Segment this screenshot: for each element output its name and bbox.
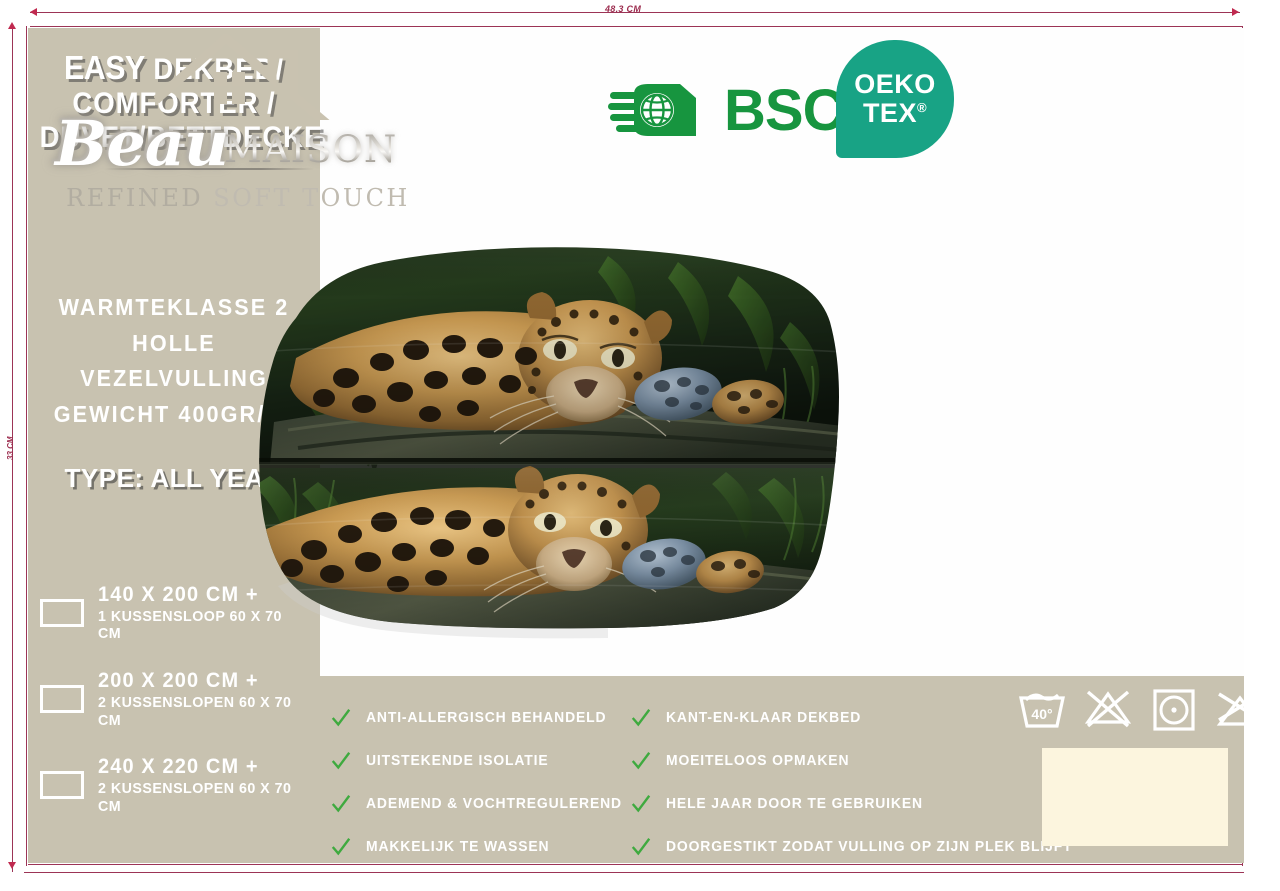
list-item: ANTI-ALLERGISCH BEHANDELD xyxy=(330,696,630,739)
tumble-dry-icon xyxy=(1148,682,1200,734)
product-image-duvet xyxy=(178,226,858,646)
list-item: MOEITELOOS OPMAKEN xyxy=(630,739,1020,782)
oeko-tex-certification-logo: OEKO TEX® xyxy=(836,40,954,158)
oeko-line-1: OEKO xyxy=(854,70,936,99)
dimension-arrow-right xyxy=(1232,8,1239,16)
checkmark-icon xyxy=(630,836,652,858)
oeko-tex-text: TEX xyxy=(863,98,917,128)
feature-list: ANTI-ALLERGISCH BEHANDELD UITSTEKENDE IS… xyxy=(330,696,1020,868)
dimension-guide-left-inner xyxy=(26,26,27,866)
checkmark-icon xyxy=(330,836,352,858)
checkmark-icon xyxy=(630,707,652,729)
feature-label: MAKKELIJK TE WASSEN xyxy=(366,839,549,855)
tagline-word-refined: REFINED xyxy=(66,184,203,212)
feature-label: ADEMEND & VOCHTREGULEREND xyxy=(366,796,622,812)
size-checkbox-200x200[interactable] xyxy=(40,685,84,713)
packaging-artboard: 48.3 CM 33 CM EASY DEKBED/ COMFORTER / D… xyxy=(0,0,1280,891)
size-pillowcase-info: 2 KUSSENSLOPEN 60 X 70 CM xyxy=(98,780,309,815)
size-option-row[interactable]: 240 X 220 CM + 2 KUSSENSLOPEN 60 X 70 CM xyxy=(40,755,320,815)
size-pillowcase-info: 2 KUSSENSLOPEN 60 X 70 CM xyxy=(98,694,309,729)
feature-label: UITSTEKENDE ISOLATIE xyxy=(366,753,549,769)
bsci-certification-logo: BSCI xyxy=(608,76,859,144)
dimension-arrow-down xyxy=(8,862,16,869)
oeko-line-2: TEX® xyxy=(863,99,927,128)
list-item: UITSTEKENDE ISOLATIE xyxy=(330,739,630,782)
size-option-row[interactable]: 200 X 200 CM + 2 KUSSENSLOPEN 60 X 70 CM xyxy=(40,669,320,729)
checkmark-icon xyxy=(630,750,652,772)
logo-divider xyxy=(104,168,314,170)
checkmark-icon xyxy=(330,750,352,772)
do-not-dry-clean-icon xyxy=(1214,682,1266,734)
list-item: KANT-EN-KLAAR DEKBED xyxy=(630,696,1020,739)
dimension-label-height: 33 CM xyxy=(6,436,15,460)
feature-column-left: ANTI-ALLERGISCH BEHANDELD UITSTEKENDE IS… xyxy=(330,696,630,868)
feature-column-right: KANT-EN-KLAAR DEKBED MOEITELOOS OPMAKEN … xyxy=(630,696,1020,868)
feature-label: ANTI-ALLERGISCH BEHANDELD xyxy=(366,710,606,726)
tagline-word-soft-touch: SOFT TOUCH xyxy=(213,184,410,212)
feature-label: MOEITELOOS OPMAKEN xyxy=(666,753,849,769)
size-option-label: 240 X 220 CM + 2 KUSSENSLOPEN 60 X 70 CM xyxy=(98,755,320,815)
size-checkbox-240x220[interactable] xyxy=(40,771,84,799)
list-item: DOORGESTIKT ZODAT VULLING OP ZIJN PLEK B… xyxy=(630,825,1020,868)
package-front-panel: EASY DEKBED/ COMFORTER / DUVET/BETTDECKE… xyxy=(28,28,1244,863)
dimension-guide-bottom-outer xyxy=(24,872,1244,873)
do-not-bleach-icon xyxy=(1082,682,1134,734)
checkmark-icon xyxy=(330,793,352,815)
size-option-label: 200 X 200 CM + 2 KUSSENSLOPEN 60 X 70 CM xyxy=(98,669,320,729)
list-item: HELE JAAR DOOR TE GEBRUIKEN xyxy=(630,782,1020,825)
feature-label: KANT-EN-KLAAR DEKBED xyxy=(666,710,861,726)
brand-wordmark: Beau MAISON xyxy=(48,106,428,186)
brand-name-serif: MAISON xyxy=(224,128,397,171)
feature-label: DOORGESTIKT ZODAT VULLING OP ZIJN PLEK B… xyxy=(666,839,1072,855)
registered-mark: ® xyxy=(917,100,927,115)
dimension-arrow-up xyxy=(8,22,16,29)
dimension-label-width: 48.3 CM xyxy=(605,4,641,14)
hand-globe-icon xyxy=(608,76,716,144)
dimension-guide-top-inner xyxy=(30,26,1242,27)
checkmark-icon xyxy=(330,707,352,729)
leopard-duvet-photo xyxy=(178,226,858,646)
size-dimension: 200 X 200 CM + xyxy=(98,669,309,694)
size-dimension: 240 X 220 CM + xyxy=(98,755,309,780)
brand-tagline: REFINED SOFT TOUCH xyxy=(48,184,428,212)
brand-logo: Beau MAISON REFINED SOFT TOUCH xyxy=(48,34,428,224)
care-symbols-group: 40° xyxy=(1016,682,1266,734)
wash-temperature-label: 40° xyxy=(1031,706,1052,722)
feature-label: HELE JAAR DOOR TE GEBRUIKEN xyxy=(666,796,923,812)
checkmark-icon xyxy=(630,793,652,815)
list-item: MAKKELIJK TE WASSEN xyxy=(330,825,630,868)
label-placeholder-box xyxy=(1042,748,1228,846)
dimension-arrow-left xyxy=(30,8,37,16)
size-checkbox-140x200[interactable] xyxy=(40,599,84,627)
wash-40-degrees-icon: 40° xyxy=(1016,682,1068,734)
list-item: ADEMEND & VOCHTREGULEREND xyxy=(330,782,630,825)
